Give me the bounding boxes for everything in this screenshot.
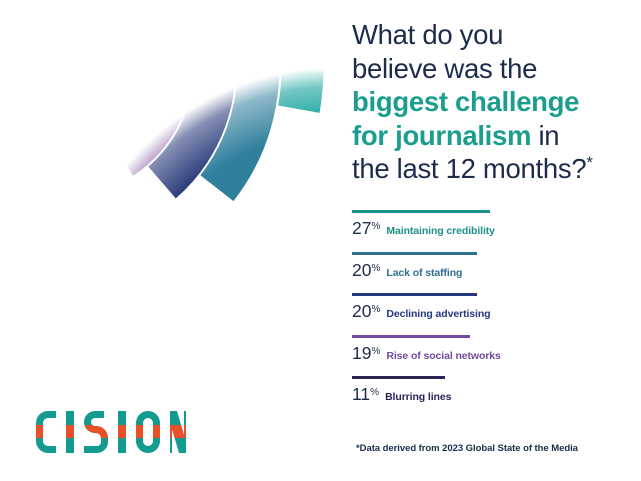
cision-logo: [34, 411, 186, 453]
stat-row: 20%Declining advertising: [352, 301, 624, 322]
stat-item: 19%Rise of social networks: [352, 335, 624, 364]
stat-item: 27%Maintaining credibility: [352, 210, 624, 239]
headline-connector: in: [531, 120, 559, 151]
stat-percent-symbol: %: [370, 387, 379, 398]
stat-bar: [352, 376, 445, 379]
stat-percent-symbol: %: [371, 263, 380, 274]
stat-item: 20%Lack of staffing: [352, 252, 624, 281]
headline-highlight-1: biggest challenge: [352, 86, 579, 117]
page-title: What do youbelieve was thebiggest challe…: [352, 18, 620, 186]
headline-highlight-2: for journalism: [352, 120, 531, 151]
headline-line-1: What do you: [352, 19, 503, 50]
stat-value: 11: [352, 384, 370, 405]
stats-list: 27%Maintaining credibility20%Lack of sta…: [352, 210, 624, 418]
footnote: *Data derived from 2023 Global State of …: [356, 443, 578, 454]
logo-accent-band: [34, 425, 186, 438]
stat-label: Lack of staffing: [386, 267, 462, 279]
stat-item: 20%Declining advertising: [352, 293, 624, 322]
stat-label: Rise of social networks: [386, 350, 500, 362]
stat-row: 19%Rise of social networks: [352, 343, 624, 364]
stat-label: Declining advertising: [386, 308, 490, 320]
arc-ring-steel-blue: [0, 0, 289, 192]
stat-row: 11%Blurring lines: [352, 384, 624, 405]
arc-ring-navy: [0, 0, 239, 188]
stat-bar: [352, 293, 477, 296]
stat-bar: [352, 252, 477, 255]
stat-percent-symbol: %: [371, 221, 380, 232]
stat-bar: [352, 335, 470, 338]
headline-line-2: believe was the: [352, 53, 537, 84]
stat-percent-symbol: %: [371, 304, 380, 315]
stat-row: 27%Maintaining credibility: [352, 218, 624, 239]
infographic-page: What do youbelieve was thebiggest challe…: [0, 0, 641, 481]
stat-bar: [352, 210, 490, 213]
stat-value: 20: [352, 301, 371, 322]
stat-label: Maintaining credibility: [386, 225, 495, 237]
stat-value: 19: [352, 343, 371, 364]
stat-percent-symbol: %: [371, 346, 380, 357]
logo-letters-fill: [34, 411, 186, 453]
headline-block: What do youbelieve was thebiggest challe…: [352, 18, 620, 186]
stat-value: 20: [352, 260, 371, 281]
arc-ring-teal: [0, 0, 335, 109]
stat-row: 20%Lack of staffing: [352, 260, 624, 281]
stat-item: 11%Blurring lines: [352, 376, 624, 405]
stat-value: 27: [352, 218, 371, 239]
headline-asterisk: *: [586, 153, 592, 172]
concentric-arcs-graphic: [0, 0, 335, 340]
arc-ring-purple: [0, 0, 188, 164]
stat-label: Blurring lines: [385, 391, 451, 403]
arc-ring-indigo: [0, 0, 137, 131]
headline-line-5: the last 12 months?: [352, 153, 586, 184]
